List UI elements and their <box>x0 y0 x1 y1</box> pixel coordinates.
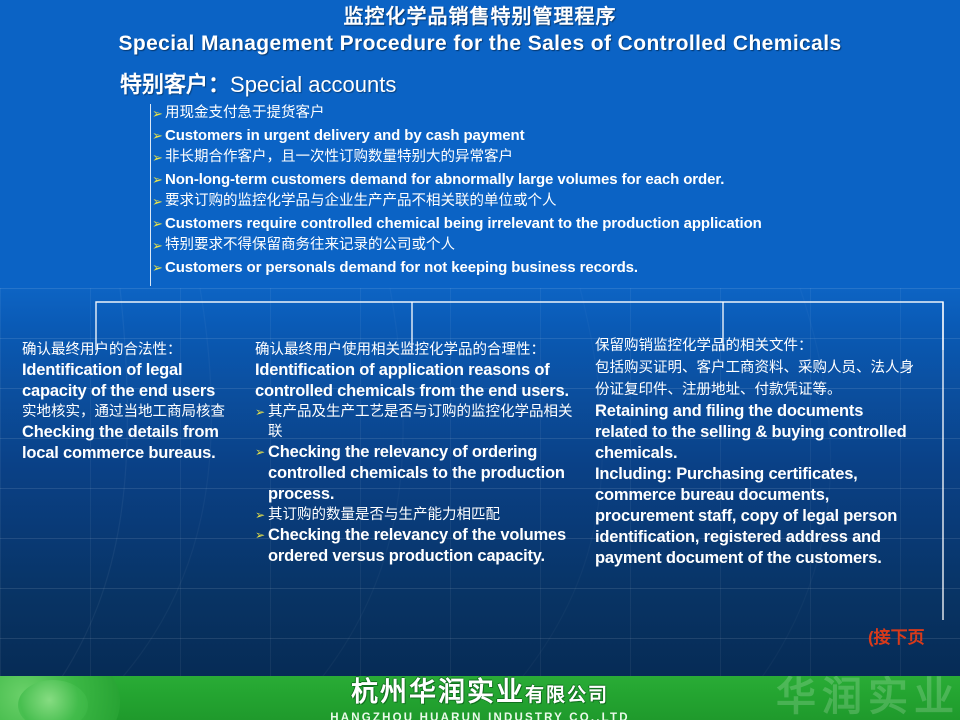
section-heading: 特别客户：Special accounts <box>120 71 396 99</box>
bullet-arrow-icon: ➢ <box>152 124 163 147</box>
column-document-retention: 保留购销监控化学品的相关文件：包括购买证明、客户工商资料、采购人员、法人身份证复… <box>595 335 915 569</box>
bullet-arrow-icon: ➢ <box>255 525 265 546</box>
column-bullet-item: ➢Checking the relevancy of the volumes o… <box>255 525 580 567</box>
slide-title: 监控化学品销售特别管理程序 Special Management Procedu… <box>0 4 960 58</box>
column-bullet-item: ➢其订购的数量是否与生产能力相匹配 <box>255 505 580 525</box>
footer-text-block: 杭州华润实业有限公司 HANGZHOU HUARUN INDUSTRY CO.,… <box>0 677 960 720</box>
column-text: Checking the relevancy of ordering contr… <box>268 443 565 503</box>
column-paragraph: 实地核实，通过当地工商局核查 <box>22 402 237 422</box>
section-heading-english: Special accounts <box>230 72 396 97</box>
bullet-item-label: Customers require controlled chemical be… <box>165 215 762 232</box>
bullet-item-label: 特别要求不得保留商务往来记录的公司或个人 <box>165 237 455 253</box>
column-application-reasons: 确认最终用户使用相关监控化学品的合理性：Identification of ap… <box>255 340 580 567</box>
slide-canvas: 监控化学品销售特别管理程序 Special Management Procedu… <box>0 0 960 720</box>
column-paragraph: Identification of application reasons of… <box>255 360 580 402</box>
bullet-item: ➢要求订购的监控化学品与企业生产产品不相关联的单位或个人 <box>152 191 958 212</box>
column-text: Including: Purchasing certificates, comm… <box>595 465 897 567</box>
column-text: Retaining and filing the documents relat… <box>595 402 907 462</box>
bullet-arrow-icon: ➢ <box>152 212 163 235</box>
column-paragraph: 确认最终用户的合法性： <box>22 340 237 360</box>
bullet-item-label: 要求订购的监控化学品与企业生产产品不相关联的单位或个人 <box>165 193 557 209</box>
bullet-item: ➢Customers or personals demand for not k… <box>152 256 958 279</box>
footer-company-chinese: 杭州华润实业有限公司 <box>0 677 960 711</box>
continued-note: (接下页 <box>868 628 925 648</box>
slide-title-chinese: 监控化学品销售特别管理程序 <box>0 4 960 30</box>
bullet-arrow-icon: ➢ <box>152 191 163 212</box>
bullet-arrow-icon: ➢ <box>255 505 265 525</box>
bullet-item-label: Customers or personals demand for not ke… <box>165 259 638 276</box>
bullet-arrow-icon: ➢ <box>255 402 265 422</box>
bullet-arrow-icon: ➢ <box>152 235 163 256</box>
bullet-arrow-icon: ➢ <box>152 256 163 279</box>
column-text: 确认最终用户使用相关监控化学品的合理性： <box>255 342 545 358</box>
column-paragraph: Checking the details from local commerce… <box>22 422 237 464</box>
column-text: 包括购买证明、客户工商资料、采购人员、法人身份证复印件、注册地址、付款凭证等。 <box>595 360 914 398</box>
bullet-item: ➢特别要求不得保留商务往来记录的公司或个人 <box>152 235 958 256</box>
footer-banner: 华润实业 杭州华润实业有限公司 HANGZHOU HUARUN INDUSTRY… <box>0 676 960 720</box>
bullet-item: ➢Non-long-term customers demand for abno… <box>152 168 958 191</box>
column-text: 实地核实，通过当地工商局核查 <box>22 404 225 420</box>
bullet-arrow-icon: ➢ <box>152 168 163 191</box>
column-text: Identification of legal capacity of the … <box>22 361 215 400</box>
column-paragraph: Retaining and filing the documents relat… <box>595 401 915 464</box>
column-legal-capacity: 确认最终用户的合法性：Identification of legal capac… <box>22 340 237 464</box>
footer-company-chinese-main: 杭州华润实业 <box>351 677 525 707</box>
bullet-item: ➢用现金支付急于提货客户 <box>152 103 958 124</box>
bullet-item: ➢非长期合作客户，且一次性订购数量特别大的异常客户 <box>152 147 958 168</box>
column-bullet-item: ➢其产品及生产工艺是否与订购的监控化学品相关联 <box>255 402 580 442</box>
bullet-arrow-icon: ➢ <box>152 147 163 168</box>
column-bullet-item: ➢Checking the relevancy of ordering cont… <box>255 442 580 505</box>
column-paragraph: Including: Purchasing certificates, comm… <box>595 464 915 569</box>
column-paragraph: Identification of legal capacity of the … <box>22 360 237 402</box>
bullet-item: ➢Customers in urgent delivery and by cas… <box>152 124 958 147</box>
bullet-item-label: 用现金支付急于提货客户 <box>165 105 325 121</box>
bullet-item-label: 非长期合作客户，且一次性订购数量特别大的异常客户 <box>165 149 513 165</box>
bullet-list: ➢用现金支付急于提货客户➢Customers in urgent deliver… <box>152 103 958 279</box>
footer-company-english: HANGZHOU HUARUN INDUSTRY CO.,LTD <box>0 711 960 720</box>
bullet-item: ➢Customers require controlled chemical b… <box>152 212 958 235</box>
column-text: 确认最终用户的合法性： <box>22 342 182 358</box>
column-paragraph: 保留购销监控化学品的相关文件： <box>595 335 915 357</box>
bullet-item-label: Non-long-term customers demand for abnor… <box>165 171 724 188</box>
bullet-list-rail <box>150 104 151 286</box>
slide-title-english: Special Management Procedure for the Sal… <box>0 30 960 58</box>
section-heading-chinese: 特别客户： <box>120 72 230 97</box>
column-text: Checking the details from local commerce… <box>22 423 219 462</box>
column-paragraph: 确认最终用户使用相关监控化学品的合理性： <box>255 340 580 360</box>
column-paragraph: 包括购买证明、客户工商资料、采购人员、法人身份证复印件、注册地址、付款凭证等。 <box>595 357 915 401</box>
column-text: Identification of application reasons of… <box>255 361 569 400</box>
bullet-item-label: Customers in urgent delivery and by cash… <box>165 127 524 144</box>
column-text: 保留购销监控化学品的相关文件： <box>595 338 813 354</box>
column-text: Checking the relevancy of the volumes or… <box>268 526 566 565</box>
column-text: 其产品及生产工艺是否与订购的监控化学品相关联 <box>268 404 573 440</box>
footer-company-chinese-suffix: 有限公司 <box>525 685 609 706</box>
column-text: 其订购的数量是否与生产能力相匹配 <box>268 507 500 523</box>
bullet-arrow-icon: ➢ <box>152 103 163 124</box>
bullet-arrow-icon: ➢ <box>255 442 265 463</box>
